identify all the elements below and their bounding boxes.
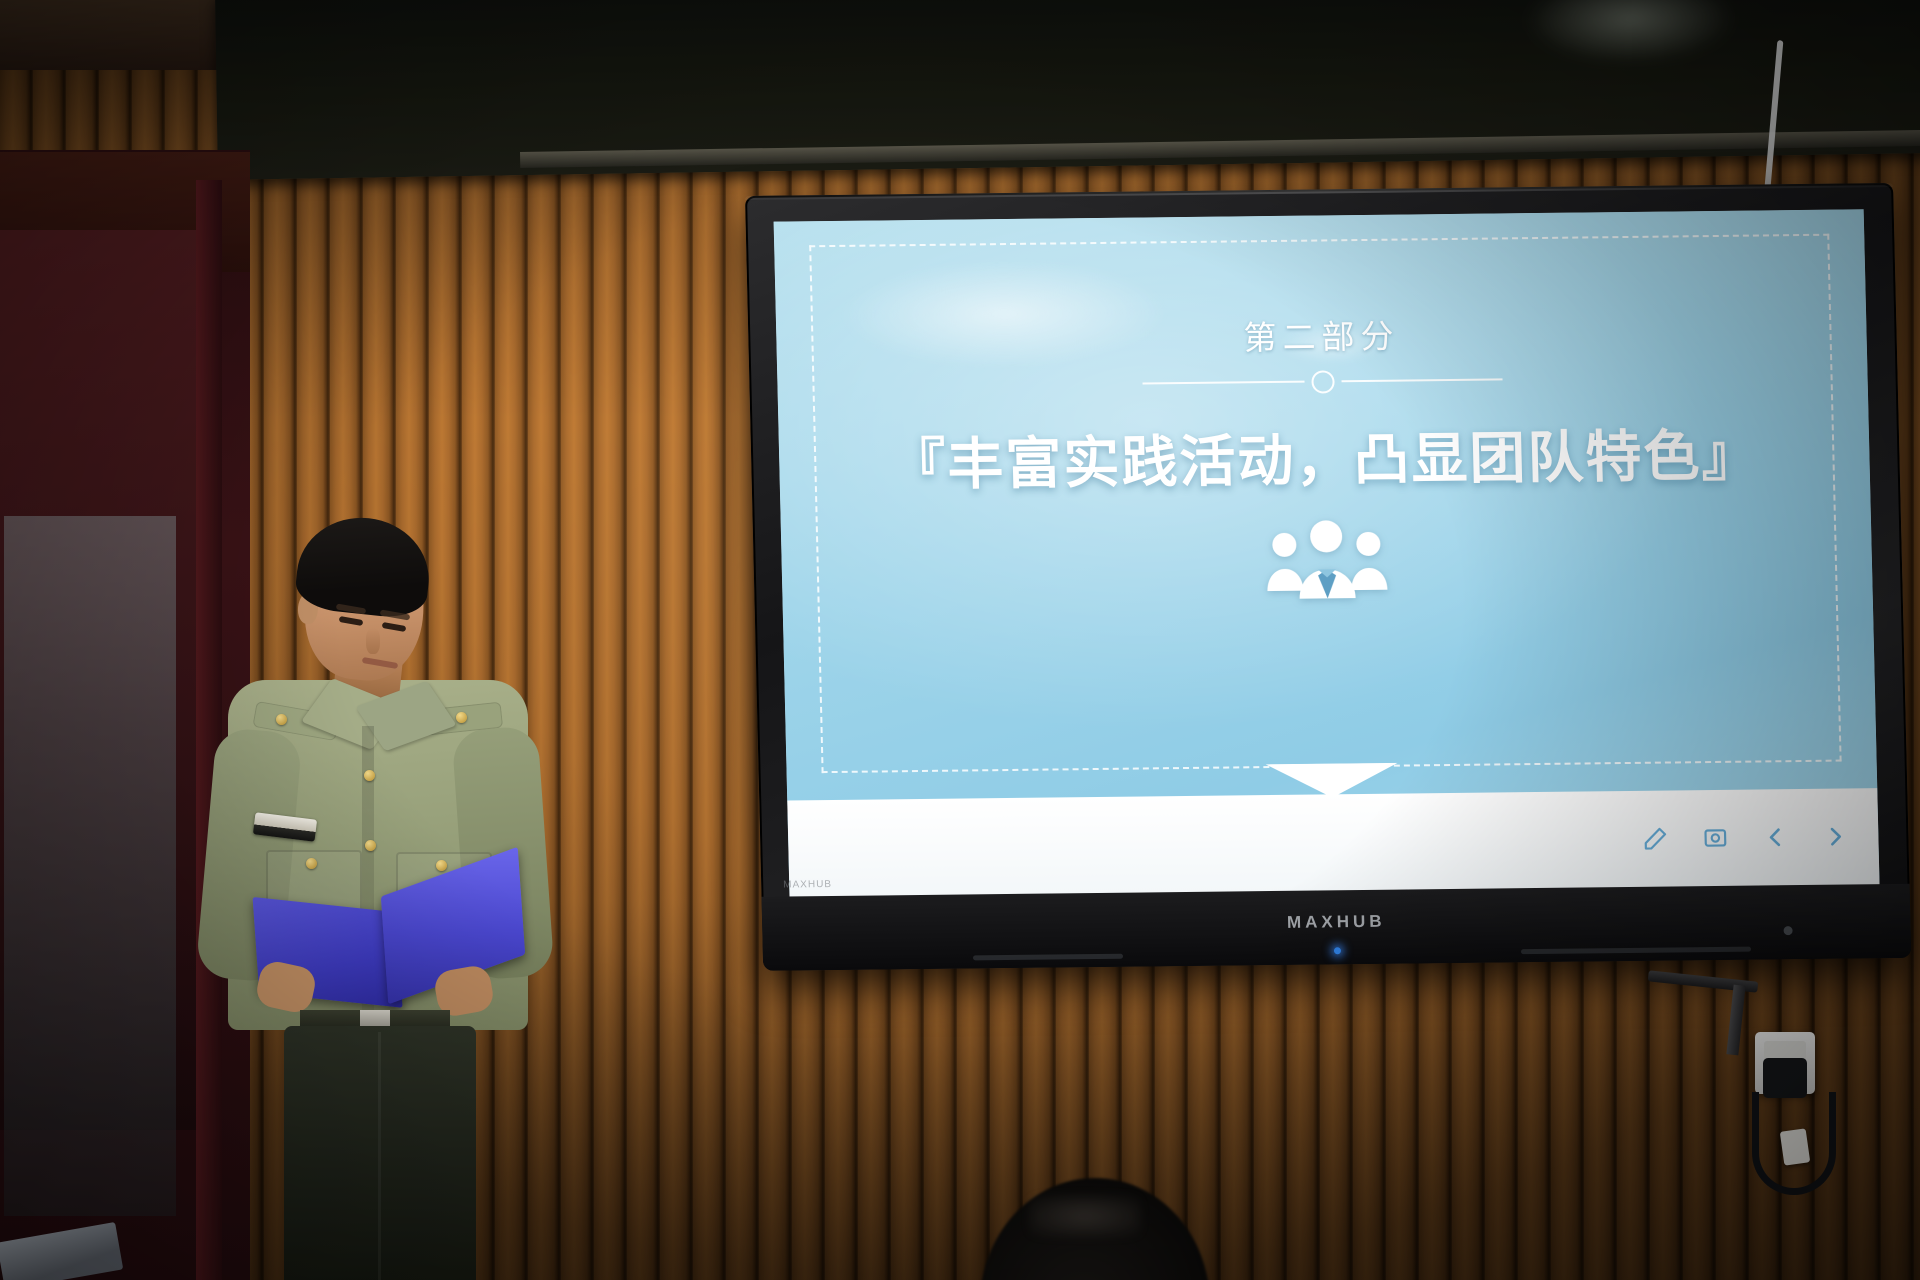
maxhub-interactive-display[interactable]: 第二部分 『丰富实践活动，凸显团队特色』 [745, 183, 1911, 971]
maxhub-logo: MAXHUB [1287, 912, 1386, 933]
next-slide-icon[interactable] [1820, 822, 1851, 852]
slide-title: 『丰富实践活动，凸显团队特色』 [778, 409, 1870, 502]
audience-head-highlight [1030, 1196, 1140, 1236]
ir-touch-strip-right [1521, 947, 1751, 955]
prev-slide-icon[interactable] [1760, 823, 1791, 853]
cable-tag [1780, 1128, 1810, 1165]
slide-content: 第二部分 『丰富实践活动，凸显团队特色』 [776, 304, 1873, 606]
pen-icon[interactable] [1640, 824, 1671, 854]
trouser-seam [378, 1032, 381, 1280]
pocket-button-left [306, 858, 317, 869]
ir-sensor-dot [1783, 926, 1792, 935]
shirt-button-1 [364, 770, 375, 781]
pocket-button-right [436, 860, 447, 871]
door-glass-pane [4, 516, 176, 1216]
epaulet-button-right [456, 712, 467, 723]
divider-line-left [1143, 381, 1305, 385]
hair [293, 511, 434, 620]
slide-divider [1142, 368, 1503, 395]
presenter-figure [210, 520, 630, 1280]
shirt-button-2 [365, 840, 376, 851]
epaulet-button-left [276, 714, 287, 725]
group-people-icon [1262, 517, 1392, 600]
display-screen[interactable]: 第二部分 『丰富实践活动，凸显团队特色』 [774, 209, 1880, 898]
photo-scene: 第二部分 『丰富实践活动，凸显团队特色』 [0, 0, 1920, 1280]
power-led-indicator [1334, 947, 1341, 954]
door-panel [0, 230, 196, 1130]
screenshot-icon[interactable] [1700, 823, 1731, 853]
divider-line-right [1341, 379, 1503, 383]
ir-touch-strip-left [973, 954, 1123, 961]
nose [366, 628, 380, 654]
slide-toolbar[interactable] [1640, 822, 1851, 854]
divider-circle [1311, 370, 1335, 393]
display-side-label: MAXHUB [783, 879, 832, 891]
beam-glint [1525, 0, 1736, 65]
presentation-slide: 第二部分 『丰富实践活动，凸显团队特色』 [774, 209, 1880, 898]
display-chin: MAXHUB [762, 884, 1912, 971]
